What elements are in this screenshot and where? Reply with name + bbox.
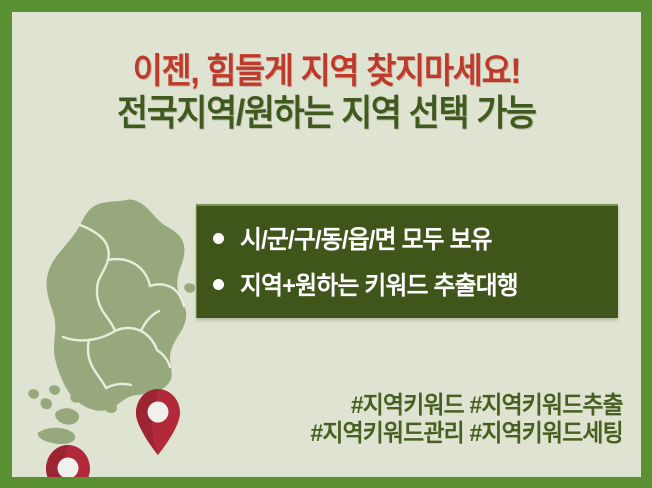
map-pin-north	[130, 386, 186, 456]
banner-content: 이젠, 힘들게 지역 찾지마세요! 전국지역/원하는 지역 선택 가능	[12, 12, 641, 477]
bullet-icon	[213, 279, 224, 290]
feature-item-label: 시/군/구/동/읍/면 모두 보유	[240, 220, 492, 256]
list-item: 시/군/구/동/읍/면 모두 보유	[213, 220, 618, 256]
headline-line-1: 이젠, 힘들게 지역 찾지마세요!	[34, 54, 619, 89]
bullet-icon	[213, 233, 224, 244]
south-korea-map	[18, 194, 218, 444]
feature-list: 시/군/구/동/읍/면 모두 보유 지역+원하는 키워드 추출대행	[197, 206, 618, 302]
hashtag-line-1: #지역키워드 #지역키워드추출	[311, 392, 623, 420]
promo-banner: 이젠, 힘들게 지역 찾지마세요! 전국지역/원하는 지역 선택 가능	[0, 0, 652, 488]
page-title: 이젠, 힘들게 지역 찾지마세요! 전국지역/원하는 지역 선택 가능	[12, 54, 641, 131]
map-icon	[18, 194, 218, 444]
feature-list-box: 시/군/구/동/읍/면 모두 보유 지역+원하는 키워드 추출대행	[196, 204, 618, 318]
hashtag-line-2: #지역키워드관리 #지역키워드세팅	[311, 420, 623, 448]
map-pin-west	[40, 442, 96, 477]
list-item: 지역+원하는 키워드 추출대행	[213, 266, 618, 302]
hashtag-block: #지역키워드 #지역키워드추출 #지역키워드관리 #지역키워드세팅	[294, 392, 623, 449]
feature-item-label: 지역+원하는 키워드 추출대행	[240, 266, 518, 302]
headline-line-2: 전국지역/원하는 지역 선택 가능	[34, 95, 619, 131]
